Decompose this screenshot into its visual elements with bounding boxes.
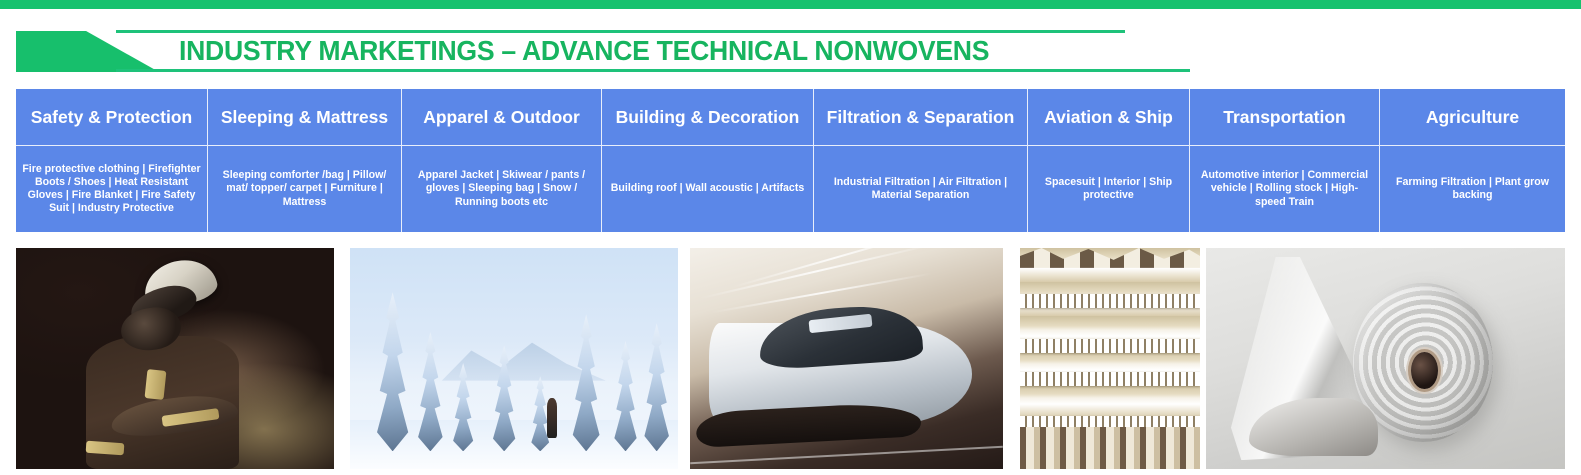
- green-logo-shape: [16, 31, 159, 72]
- column-heading: Transportation: [1190, 89, 1379, 146]
- table-column-safety-protection[interactable]: Safety & Protection Fire protective clot…: [16, 89, 208, 232]
- firefighter-scene: [16, 248, 334, 469]
- hiker-figure: [547, 398, 557, 438]
- fibre-layers-scene: [1020, 248, 1200, 469]
- train-scene: [690, 248, 1003, 469]
- fibre-comb-layer: [1020, 372, 1200, 386]
- table-column-agriculture[interactable]: Agriculture Farming Filtration | Plant g…: [1380, 89, 1565, 232]
- photo-strip: [0, 248, 1581, 469]
- train-rail-line: [690, 446, 1003, 464]
- reflective-stripe: [145, 369, 167, 400]
- photo-roll-of-nonwoven-fabric: [1206, 248, 1565, 469]
- column-heading: Building & Decoration: [602, 89, 813, 146]
- column-items: Sleeping comforter /bag | Pillow/ mat/ t…: [208, 146, 401, 232]
- photo-layered-nonwoven-fibre-material: [1020, 248, 1200, 469]
- column-heading: Sleeping & Mattress: [208, 89, 401, 146]
- table-column-filtration-separation[interactable]: Filtration & Separation Industrial Filtr…: [814, 89, 1028, 232]
- slide-header: INDUSTRY MARKETINGS – ADVANCE TECHNICAL …: [0, 9, 1581, 87]
- motion-blur-streak: [710, 273, 932, 314]
- fabric-roll-scene: [1206, 248, 1565, 469]
- column-items: Building roof | Wall acoustic | Artifact…: [602, 146, 813, 232]
- fibre-top-edge: [1020, 248, 1200, 268]
- column-heading: Aviation & Ship: [1028, 89, 1189, 146]
- fibre-comb-layer: [1020, 294, 1200, 308]
- column-heading: Agriculture: [1380, 89, 1565, 146]
- column-items: Apparel Jacket | Skiwear / pants / glove…: [402, 146, 601, 232]
- column-items: Farming Filtration | Plant grow backing: [1380, 146, 1565, 232]
- page-title: INDUSTRY MARKETINGS – ADVANCE TECHNICAL …: [179, 35, 989, 67]
- table-column-transportation[interactable]: Transportation Automotive interior | Com…: [1190, 89, 1380, 232]
- fibre-comb-layer: [1020, 339, 1200, 353]
- fibre-bottom-rods: [1020, 427, 1200, 469]
- column-items: Fire protective clothing | Firefighter B…: [16, 146, 207, 232]
- column-items: Automotive interior | Commercial vehicle…: [1190, 146, 1379, 232]
- column-items: Spacesuit | Interior | Ship protective: [1028, 146, 1189, 232]
- column-heading: Filtration & Separation: [814, 89, 1027, 146]
- photo-person-walking-in-snowy-forest: [350, 248, 678, 469]
- title-rule-top: [116, 30, 1125, 33]
- train-windshield: [757, 302, 923, 371]
- photo-high-speed-train: [690, 248, 1003, 469]
- roll-core-hole: [1411, 352, 1438, 390]
- slide-canvas: INDUSTRY MARKETINGS – ADVANCE TECHNICAL …: [0, 0, 1581, 475]
- table-column-apparel-outdoor[interactable]: Apparel & Outdoor Apparel Jacket | Skiwe…: [402, 89, 602, 232]
- column-items: Industrial Filtration | Air Filtration |…: [814, 146, 1027, 232]
- column-heading: Safety & Protection: [16, 89, 207, 146]
- column-heading: Apparel & Outdoor: [402, 89, 601, 146]
- top-green-bar: [0, 0, 1581, 9]
- table-column-aviation-ship[interactable]: Aviation & Ship Spacesuit | Interior | S…: [1028, 89, 1190, 232]
- title-rule-bottom: [116, 69, 1190, 72]
- table-column-building-decoration[interactable]: Building & Decoration Building roof | Wa…: [602, 89, 814, 232]
- industry-markets-table: Safety & Protection Fire protective clot…: [16, 89, 1565, 232]
- snowy-forest-scene: [350, 248, 678, 469]
- table-column-sleeping-mattress[interactable]: Sleeping & Mattress Sleeping comforter /…: [208, 89, 402, 232]
- photo-firefighter-in-protective-gear: [16, 248, 334, 469]
